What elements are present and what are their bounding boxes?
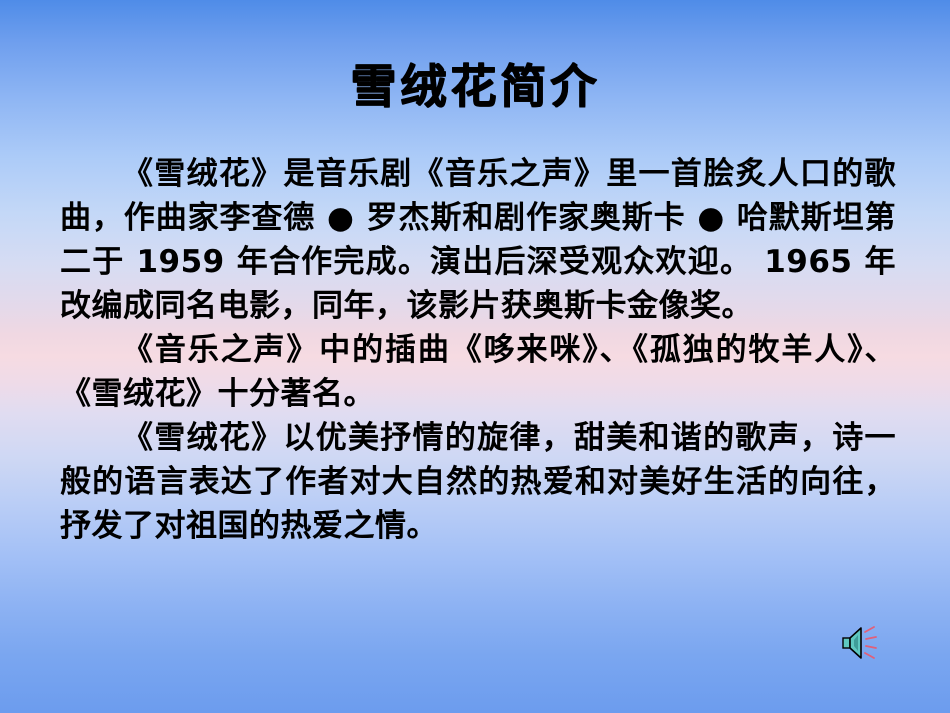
slide-title: 雪绒花简介 [0, 62, 950, 110]
body-paragraph: 《雪绒花》以优美抒情的旋律，甜美和谐的歌声，诗一般的语言表达了作者对大自然的热爱… [60, 416, 896, 548]
presentation-slide: 雪绒花简介 《雪绒花》是音乐剧《音乐之声》里一首脍炙人口的歌曲，作曲家李查德 ●… [0, 0, 950, 713]
slide-body-text: 《雪绒花》是音乐剧《音乐之声》里一首脍炙人口的歌曲，作曲家李查德 ● 罗杰斯和剧… [60, 152, 896, 548]
body-paragraph: 《雪绒花》是音乐剧《音乐之声》里一首脍炙人口的歌曲，作曲家李查德 ● 罗杰斯和剧… [60, 152, 896, 328]
speaker-sound-icon[interactable] [838, 622, 886, 664]
body-paragraph: 《音乐之声》中的插曲《哆来咪》、《孤独的牧羊人》、《雪绒花》十分著名。 [60, 328, 896, 416]
